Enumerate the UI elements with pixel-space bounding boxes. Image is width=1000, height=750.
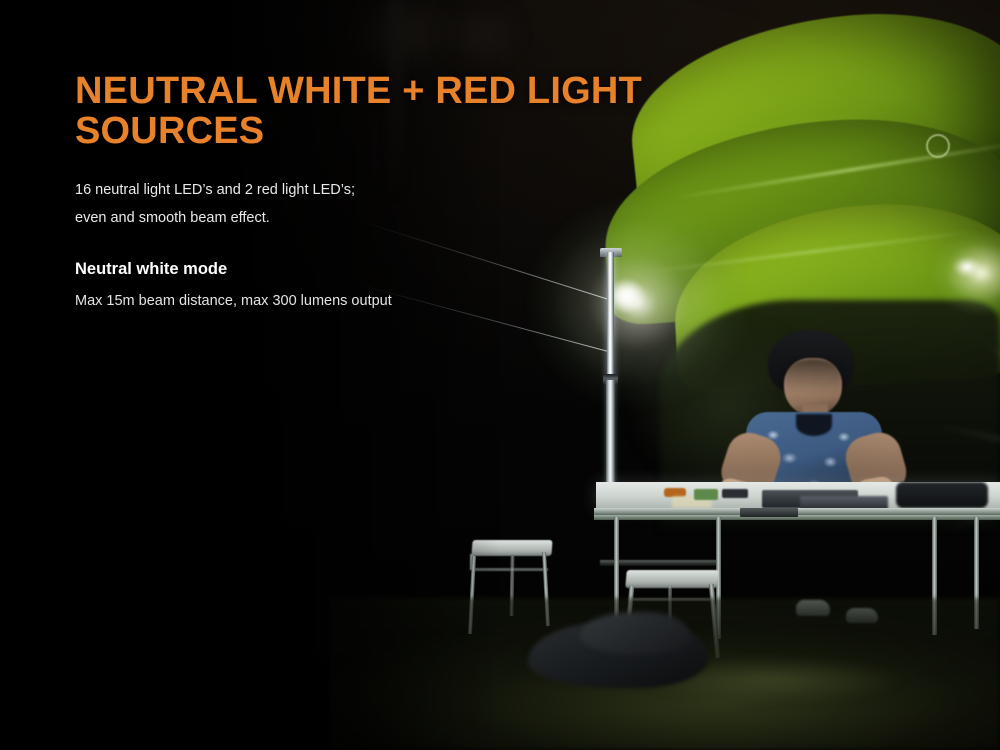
- folding-stool-right-leg: [709, 584, 720, 658]
- camper-collar: [796, 414, 832, 436]
- table-leg: [614, 517, 619, 645]
- folding-stool-left-leg: [468, 556, 476, 634]
- lantern-pole-joint: [603, 374, 618, 384]
- grass-ground: [330, 598, 1000, 750]
- table-leg: [932, 517, 937, 635]
- lantern-pole-lower: [606, 380, 615, 512]
- headline: NEUTRAL WHITE + RED LIGHT SOURCES: [75, 72, 695, 152]
- camper-right-hand: [854, 475, 896, 505]
- duffel-bag: [528, 622, 708, 688]
- light-ray: [936, 464, 1000, 535]
- camper-neck: [802, 404, 828, 422]
- tent-seam: [641, 229, 979, 274]
- table-second-book: [800, 496, 888, 510]
- folding-stool-right-seat: [625, 570, 719, 588]
- table-leg: [974, 517, 979, 629]
- tent-fly-shadow: [608, 300, 848, 510]
- folding-stool-right-leg: [668, 586, 672, 644]
- secondary-tent-light-glow: [916, 218, 1000, 328]
- folding-stool-right-leg: [623, 586, 635, 662]
- grass-highlight: [600, 652, 940, 708]
- lantern-pole-upper: [607, 252, 614, 380]
- camper-face: [784, 358, 842, 416]
- lantern-head: [600, 248, 622, 257]
- mode-description: Max 15m beam distance, max 300 lumens ou…: [75, 290, 392, 313]
- palm-tree-frond-icon: [420, 0, 540, 80]
- camper-right-arm: [841, 427, 912, 502]
- marketing-copy-block: NEUTRAL WHITE + RED LIGHT SOURCES 16 neu…: [75, 72, 695, 152]
- seated-camper: [740, 330, 930, 520]
- tent-seam: [672, 140, 1000, 200]
- light-ray: [974, 331, 1000, 467]
- folding-stool-right-brace: [628, 598, 714, 601]
- camper-face-shadow: [784, 358, 842, 392]
- camper-shoe: [796, 600, 830, 616]
- lantern-light-source: [606, 278, 646, 314]
- camper-left-hand: [716, 476, 757, 508]
- intro-line-2: even and smooth beam effect.: [75, 210, 270, 226]
- duffel-bag-top: [580, 612, 690, 654]
- tent-interior-shadow: [660, 300, 1000, 530]
- table-open-book: [762, 490, 858, 508]
- table-rail: [594, 515, 1000, 520]
- table-item-pale: [672, 496, 712, 508]
- camper-patterned-shirt: [746, 412, 882, 508]
- product-feature-banner: NEUTRAL WHITE + RED LIGHT SOURCES 16 neu…: [0, 0, 1000, 750]
- camper-shoe: [846, 608, 878, 623]
- folding-stool-left-leg: [509, 556, 514, 616]
- folding-stool-left-lip: [470, 554, 474, 570]
- intro-paragraph: 16 neutral light LED’s and 2 red light L…: [75, 176, 355, 233]
- folding-stool-left-brace: [472, 568, 548, 571]
- intro-line-1: 16 neutral light LED’s and 2 red light L…: [75, 182, 355, 198]
- mode-title: Neutral white mode: [75, 260, 227, 279]
- tent-panel-lower: [670, 197, 1000, 396]
- lantern-beam-glow: [498, 168, 778, 438]
- table-leg: [716, 517, 721, 639]
- table-hinge: [740, 508, 798, 517]
- table-item-dark: [722, 489, 748, 498]
- secondary-tent-light: [952, 256, 982, 278]
- guy-line-upper: [368, 223, 612, 301]
- table-item-green: [694, 489, 718, 500]
- camper-hair: [768, 330, 854, 396]
- table-black-bag: [896, 482, 988, 508]
- table-edge: [594, 508, 1000, 517]
- table-lower-shelf: [600, 560, 720, 566]
- folding-stool-left-seat: [471, 540, 552, 556]
- light-ray: [928, 422, 1000, 467]
- tent-brand-logo-icon: [926, 134, 950, 158]
- table-item-orange: [664, 488, 686, 497]
- lantern-pole-foot: [600, 500, 621, 511]
- guy-line-lower: [365, 286, 613, 353]
- folding-stool-left-leg: [542, 552, 550, 626]
- folding-camp-table-top: [596, 482, 1000, 510]
- camper-left-arm: [716, 427, 787, 503]
